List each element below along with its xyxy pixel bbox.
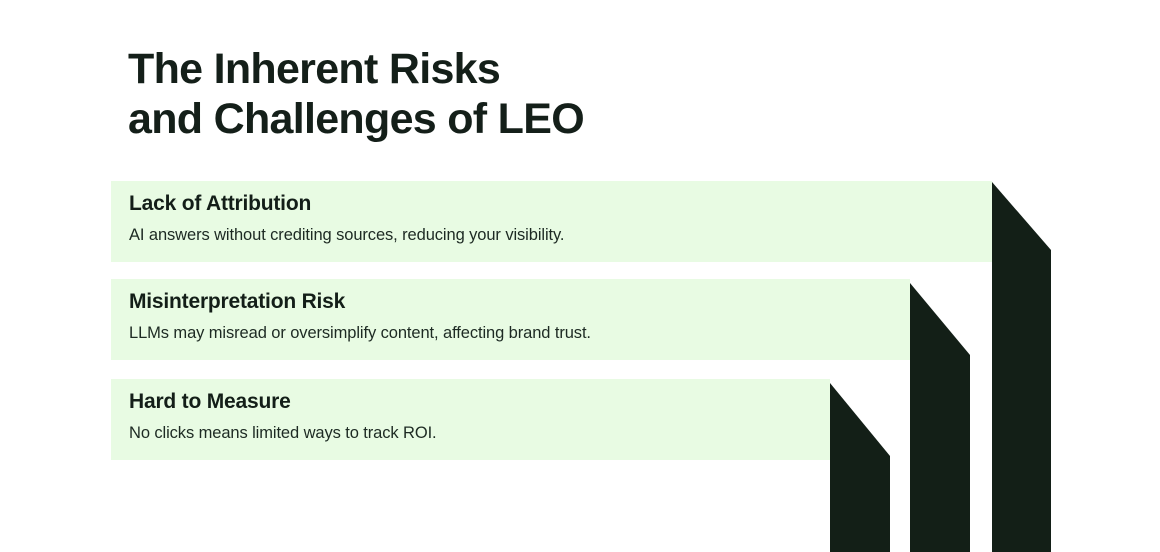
- risk-band-2: Misinterpretation Risk LLMs may misread …: [111, 279, 910, 360]
- risk-heading-1: Lack of Attribution: [129, 192, 311, 216]
- extrusion-shapes: [0, 0, 1160, 552]
- extrusion-shape-2: [910, 283, 970, 552]
- risk-heading-2: Misinterpretation Risk: [129, 290, 345, 314]
- infographic-canvas: The Inherent Risks and Challenges of LEO…: [0, 0, 1160, 552]
- risk-description-1: AI answers without crediting sources, re…: [129, 226, 564, 245]
- risk-description-3: No clicks means limited ways to track RO…: [129, 424, 437, 443]
- risk-heading-3: Hard to Measure: [129, 390, 291, 414]
- extrusion-shape-1: [992, 182, 1051, 552]
- risk-band-3: Hard to Measure No clicks means limited …: [111, 379, 830, 460]
- risk-description-2: LLMs may misread or oversimplify content…: [129, 324, 591, 343]
- risk-band-1: Lack of Attribution AI answers without c…: [111, 181, 992, 262]
- extrusion-shape-3: [830, 383, 890, 552]
